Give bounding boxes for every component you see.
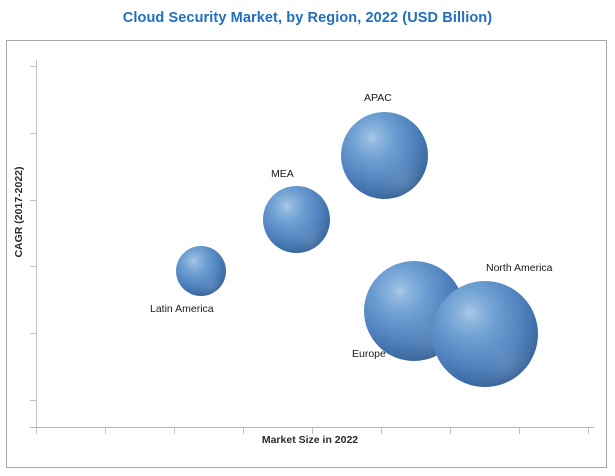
x-axis-tick [243, 428, 244, 434]
bubble-latin-america[interactable] [176, 246, 226, 296]
x-axis-tick [312, 428, 313, 434]
x-axis-tick [174, 428, 175, 434]
y-axis-tick [30, 266, 36, 267]
chart-title: Cloud Security Market, by Region, 2022 (… [0, 10, 615, 26]
x-axis-tick [450, 428, 451, 434]
y-axis-tick [30, 133, 36, 134]
y-axis-title: CAGR (2017-2022) [13, 132, 25, 292]
bubble-label-europe: Europe [352, 348, 386, 360]
y-axis-tick [30, 333, 36, 334]
bubble-north-america[interactable] [432, 281, 538, 387]
x-axis-tick [381, 428, 382, 434]
bubble-mea[interactable] [263, 186, 330, 253]
x-axis-tick [519, 428, 520, 434]
x-axis-tick [105, 428, 106, 434]
bubble-apac[interactable] [341, 112, 428, 199]
x-axis-tick [588, 428, 589, 434]
x-axis-tick [36, 428, 37, 434]
bubble-label-north-america: North America [486, 262, 553, 274]
y-axis-tick [30, 66, 36, 67]
bubble-label-apac: APAC [364, 92, 392, 104]
x-axis-title: Market Size in 2022 [180, 434, 440, 446]
bubble-label-mea: MEA [271, 168, 294, 180]
y-axis-tick [30, 200, 36, 201]
bubble-chart: Cloud Security Market, by Region, 2022 (… [0, 0, 615, 476]
y-axis-tick [30, 400, 36, 401]
bubble-label-latin-america: Latin America [150, 303, 214, 315]
